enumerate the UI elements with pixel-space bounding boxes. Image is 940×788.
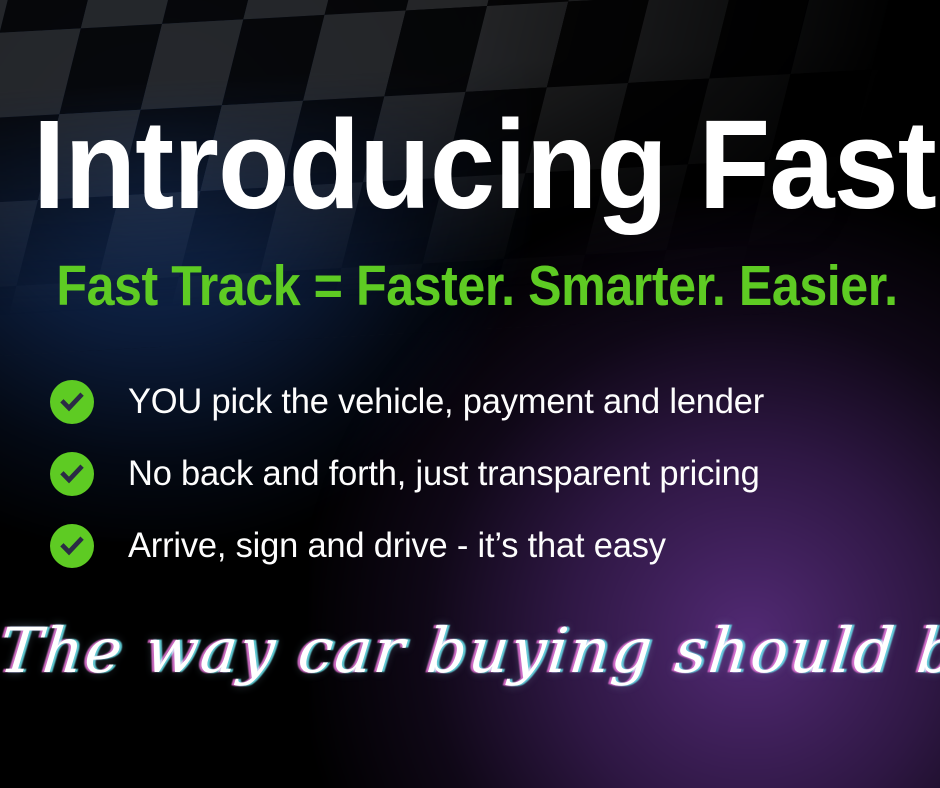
subtitle: Fast Track = Faster. Smarter. Easier. (56, 258, 883, 315)
list-item-label: No back and forth, just transparent pric… (128, 456, 760, 493)
list-item-label: Arrive, sign and drive - it’s that easy (128, 528, 666, 565)
tagline-label: The way car buying should be. (0, 614, 940, 687)
tagline: The way car buying should be. The way ca… (0, 612, 940, 690)
list-item-label: YOU pick the vehicle, payment and lender (128, 384, 764, 421)
list-item: Arrive, sign and drive - it’s that easy (50, 524, 774, 568)
page-title: Introducing Fast Track (33, 102, 907, 228)
check-circle-icon (50, 380, 94, 424)
check-circle-icon (50, 452, 94, 496)
benefits-list: YOU pick the vehicle, payment and lender… (50, 380, 774, 568)
promotional-graphic: Introducing Fast Track Fast Track = Fast… (0, 0, 940, 788)
tagline-container: The way car buying should be. The way ca… (0, 612, 940, 722)
check-circle-icon (50, 524, 94, 568)
list-item: No back and forth, just transparent pric… (50, 452, 774, 496)
list-item: YOU pick the vehicle, payment and lender (50, 380, 774, 424)
